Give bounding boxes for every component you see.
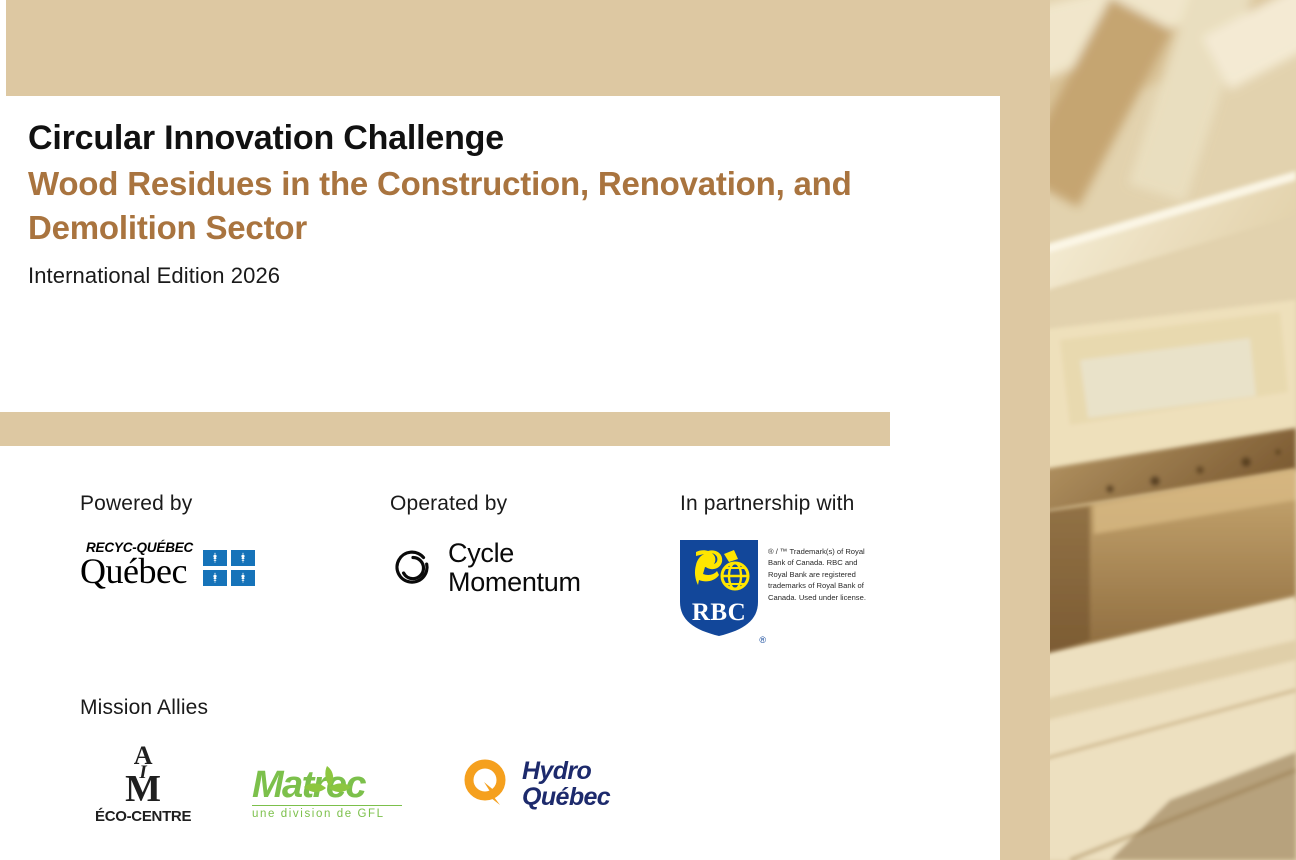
in-partnership-with-label: In partnership with: [680, 492, 980, 516]
cycle-momentum-circle-icon: [390, 545, 436, 591]
aim-letter-m: M: [125, 770, 161, 808]
cycle-momentum-line1: Cycle: [448, 540, 581, 567]
partner-section-powered-by: Powered by RECYC-QUÉBEC Québec: [80, 492, 360, 589]
rbc-logo[interactable]: RBC ® ® / ™ Trademark(s) of Royal Bank o…: [680, 540, 980, 641]
powered-by-label: Powered by: [80, 492, 360, 516]
operated-by-label: Operated by: [390, 492, 650, 516]
fleur-de-lis-icon: [203, 570, 227, 586]
fleur-de-lis-glyph: [209, 552, 221, 564]
fleur-de-lis-glyph: [237, 552, 249, 564]
mission-allies-label: Mission Allies: [80, 696, 208, 720]
mission-allies-row: A I M ÉCO-CENTRE: [0, 744, 1000, 854]
rbc-trademark-notice: ® / ™ Trademark(s) of Royal Bank of Cana…: [768, 546, 878, 603]
top-beige-band: [0, 0, 1050, 96]
title-block: Circular Innovation Challenge Wood Resid…: [28, 118, 978, 289]
hydro-quebec-logo[interactable]: Hydro Québec: [462, 744, 610, 810]
quebec-wordmark: Québec: [80, 553, 187, 589]
edition-label: International Edition 2026: [28, 263, 978, 289]
rbc-shield-icon: RBC: [680, 540, 758, 636]
matrec-leaf-icon: [296, 764, 358, 812]
content-card: Circular Innovation Challenge Wood Resid…: [0, 96, 1000, 860]
beige-divider-bar: [0, 412, 890, 446]
matrec-logo[interactable]: Matrec une division de GFL: [252, 744, 402, 820]
hydro-quebec-line1: Hydro: [522, 759, 610, 784]
aim-eco-centre-name: ÉCO-CENTRE: [95, 808, 191, 825]
fleur-de-lis-glyph: [237, 572, 249, 584]
recyc-quebec-logo[interactable]: RECYC-QUÉBEC Québec: [80, 540, 360, 589]
partner-section-operated-by: Operated by Cycle Momentum: [390, 492, 650, 596]
partners-row: Powered by RECYC-QUÉBEC Québec: [0, 492, 1000, 652]
fleur-de-lis-icon: [231, 550, 255, 566]
cycle-momentum-logo[interactable]: Cycle Momentum: [390, 540, 650, 596]
fleur-de-lis-icon: [231, 570, 255, 586]
rbc-registered-mark: ®: [759, 635, 766, 645]
hydro-quebec-q-bolt-icon: [462, 758, 516, 810]
top-left-white-notch: [0, 0, 6, 96]
hydro-quebec-line2: Québec: [522, 785, 610, 810]
wood-residues-lumber-pile-photo: [1050, 0, 1296, 860]
cycle-momentum-line2: Momentum: [448, 569, 581, 596]
fleur-de-lis-glyph: [209, 572, 221, 584]
page-subtitle: Wood Residues in the Construction, Renov…: [28, 162, 958, 249]
fleur-de-lis-icon: [203, 550, 227, 566]
aim-monogram-icon: A I M: [104, 744, 182, 806]
svg-text:RBC: RBC: [692, 599, 746, 626]
poster-root: Circular Innovation Challenge Wood Resid…: [0, 0, 1296, 860]
partner-section-in-partnership-with: In partnership with: [680, 492, 980, 641]
lumber-photo-illustration: [1050, 0, 1296, 860]
quebec-fleur-de-lis-flags: [203, 550, 255, 586]
aim-eco-centre-logo[interactable]: A I M ÉCO-CENTRE: [95, 744, 191, 825]
right-beige-column: [1000, 0, 1050, 860]
page-title: Circular Innovation Challenge: [28, 118, 978, 158]
